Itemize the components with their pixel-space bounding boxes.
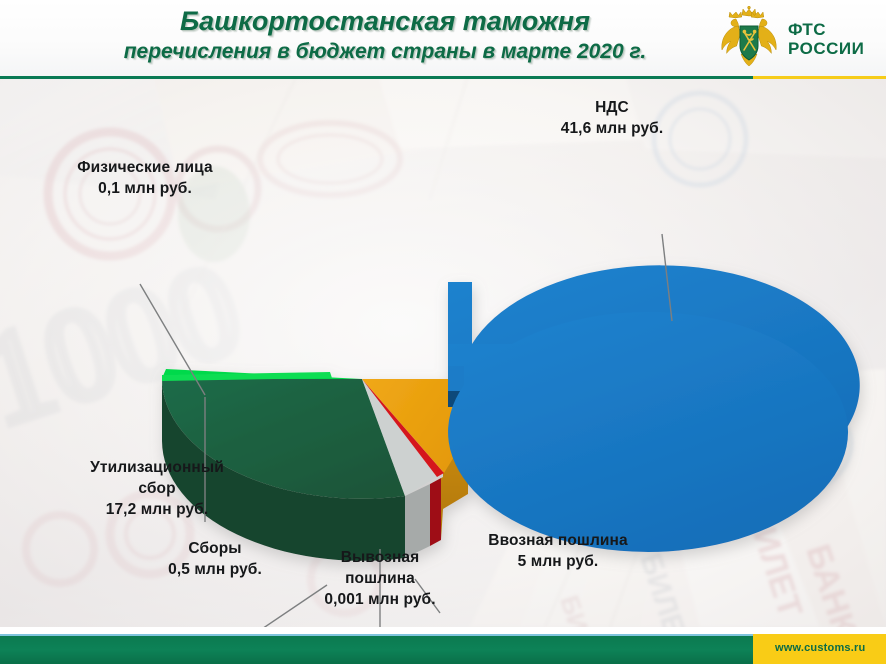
label-fiz-name: Физические лица: [45, 157, 245, 178]
label-nds: НДС 41,6 млн руб.: [512, 97, 712, 139]
label-sbory-amount: 0,5 млн руб.: [130, 559, 300, 580]
page-title: Башкортостанская таможня: [60, 6, 710, 37]
label-vvoz-amount: 5 млн руб.: [448, 551, 668, 572]
fts-logo: ФТС РОССИИ: [718, 6, 878, 72]
slide-footer: www.customs.ru: [0, 627, 886, 664]
label-vyvoznaya-poshlina: Вывозная пошлина 0,001 млн руб.: [290, 547, 470, 610]
footer-website-url[interactable]: www.customs.ru: [775, 642, 865, 654]
label-util-name-line2: сбор: [37, 478, 277, 499]
slice-top-nds-body[interactable]: [448, 312, 848, 552]
footer-green-bar: [0, 636, 753, 664]
label-sbory-name: Сборы: [130, 538, 300, 559]
label-nds-amount: 41,6 млн руб.: [512, 118, 712, 139]
russian-double-headed-eagle-crest-icon: [718, 6, 780, 70]
label-vyvoz-amount: 0,001 млн руб.: [290, 589, 470, 610]
label-nds-name: НДС: [512, 97, 712, 118]
label-vvoznaya-poshlina: Ввозная пошлина 5 млн руб.: [448, 530, 668, 572]
fts-logo-text: ФТС РОССИИ: [788, 20, 864, 58]
label-util-name-line1: Утилизационный: [37, 457, 277, 478]
page-subtitle: перечисления в бюджет страны в марте 202…: [60, 39, 710, 65]
chart-canvas: 1000: [0, 79, 886, 627]
label-utilizacionnyi-sbor: Утилизационный сбор 17,2 млн руб.: [37, 457, 277, 520]
slice-side-vyvoznaya: [430, 478, 441, 546]
label-fizicheskie-lica: Физические лица 0,1 млн руб.: [45, 157, 245, 199]
slide-root: Башкортостанская таможня перечисления в …: [0, 0, 886, 664]
label-vyvoz-name-line2: пошлина: [290, 568, 470, 589]
fts-logo-line1: ФТС: [788, 20, 864, 39]
label-vvoz-name: Ввозная пошлина: [448, 530, 668, 551]
label-util-amount: 17,2 млн руб.: [37, 499, 277, 520]
fts-logo-line2: РОССИИ: [788, 39, 864, 58]
footer-gap: [0, 627, 886, 634]
label-vyvoz-name-line1: Вывозная: [290, 547, 470, 568]
label-sbory: Сборы 0,5 млн руб.: [130, 538, 300, 580]
label-fiz-amount: 0,1 млн руб.: [45, 178, 245, 199]
header-title-block: Башкортостанская таможня перечисления в …: [60, 6, 710, 65]
slide-header: Башкортостанская таможня перечисления в …: [0, 0, 886, 78]
